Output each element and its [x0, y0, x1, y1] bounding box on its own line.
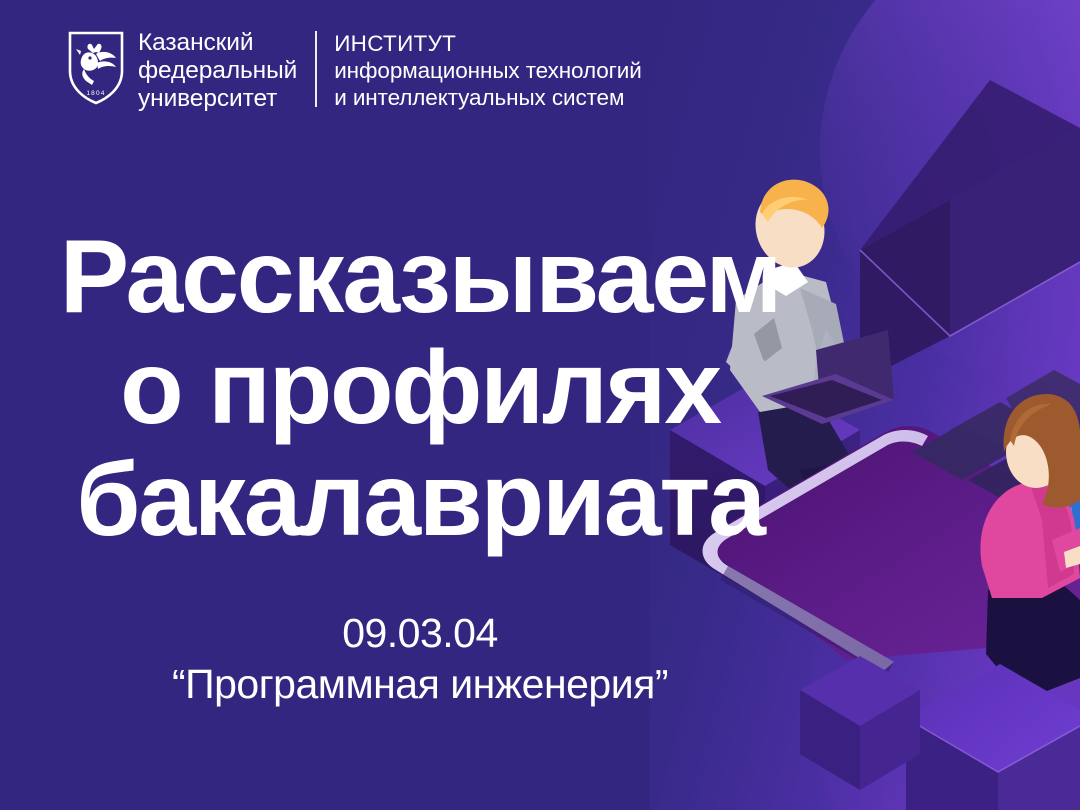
headline-line-2: о профилях	[0, 333, 840, 444]
university-name-line1: Казанский	[138, 29, 297, 57]
headline: Рассказываем о профилях бакалавриата	[0, 222, 840, 556]
kfu-logo-lockup: 1804 Казанский федеральный университет И…	[66, 27, 642, 113]
program-code: 09.03.04	[0, 608, 840, 658]
university-name-line2: федеральный	[138, 57, 297, 85]
program-name: “Программная инженерия”	[0, 660, 840, 709]
subtitle: 09.03.04 “Программная инженерия”	[0, 608, 840, 709]
university-name: Казанский федеральный университет	[138, 27, 297, 113]
university-name-line3: университет	[138, 85, 297, 113]
headline-line-1: Рассказываем	[0, 222, 840, 333]
kfu-shield-crest-icon: 1804	[66, 27, 126, 107]
institute-name-line2: информационных технологий	[334, 57, 642, 84]
institute-name: ИНСТИТУТ информационных технологий и инт…	[334, 27, 642, 111]
logo-divider	[315, 31, 317, 107]
institute-name-line3: и интеллектуальных систем	[334, 84, 642, 111]
headline-line-3: бакалавриата	[0, 445, 840, 556]
slide-root: 1804 Казанский федеральный университет И…	[0, 0, 1080, 810]
institute-name-line1: ИНСТИТУТ	[334, 30, 642, 57]
crest-year: 1804	[86, 90, 105, 97]
